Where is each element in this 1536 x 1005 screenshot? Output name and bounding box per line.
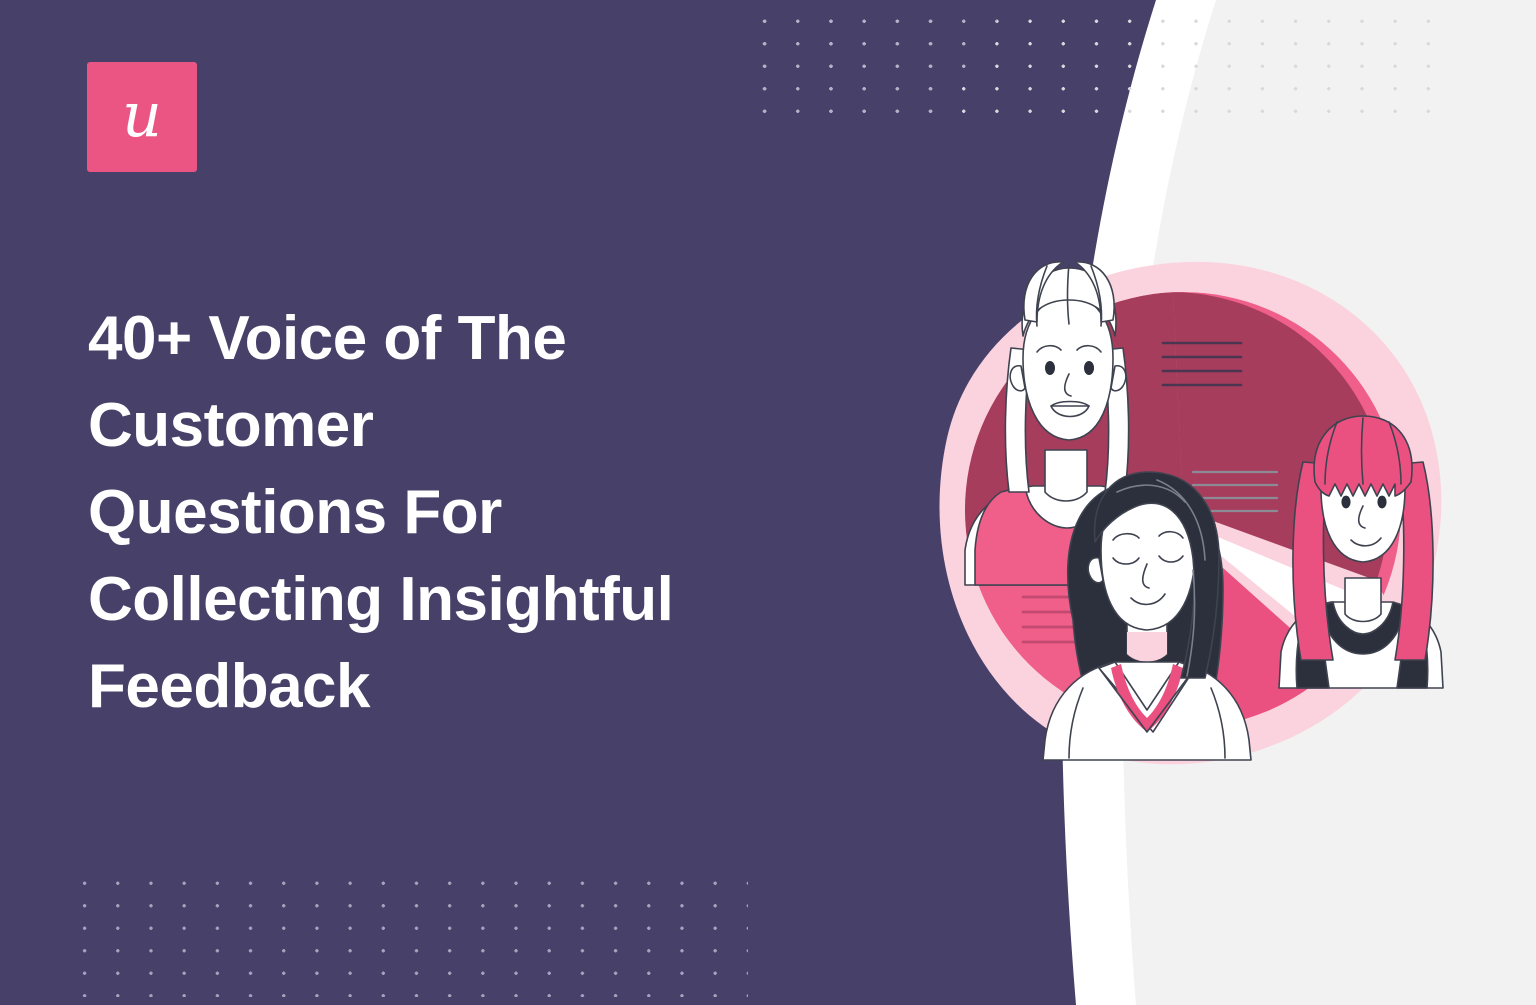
page-title: 40+ Voice of The Customer Questions For … bbox=[88, 295, 758, 730]
logo-u-glyph: u bbox=[122, 84, 162, 146]
userpilot-logo[interactable]: u bbox=[87, 62, 197, 172]
headline-line-4: Collecting Insightful bbox=[88, 556, 758, 643]
pie-chart-with-customers-illustration bbox=[905, 240, 1465, 780]
headline-line-5: Feedback bbox=[88, 643, 758, 730]
headline-line-2: Customer bbox=[88, 382, 758, 469]
blog-hero-banner: u 40+ Voice of The Customer Questions Fo… bbox=[0, 0, 1536, 1005]
headline-line-1: 40+ Voice of The bbox=[88, 295, 758, 382]
headline-line-3: Questions For bbox=[88, 469, 758, 556]
